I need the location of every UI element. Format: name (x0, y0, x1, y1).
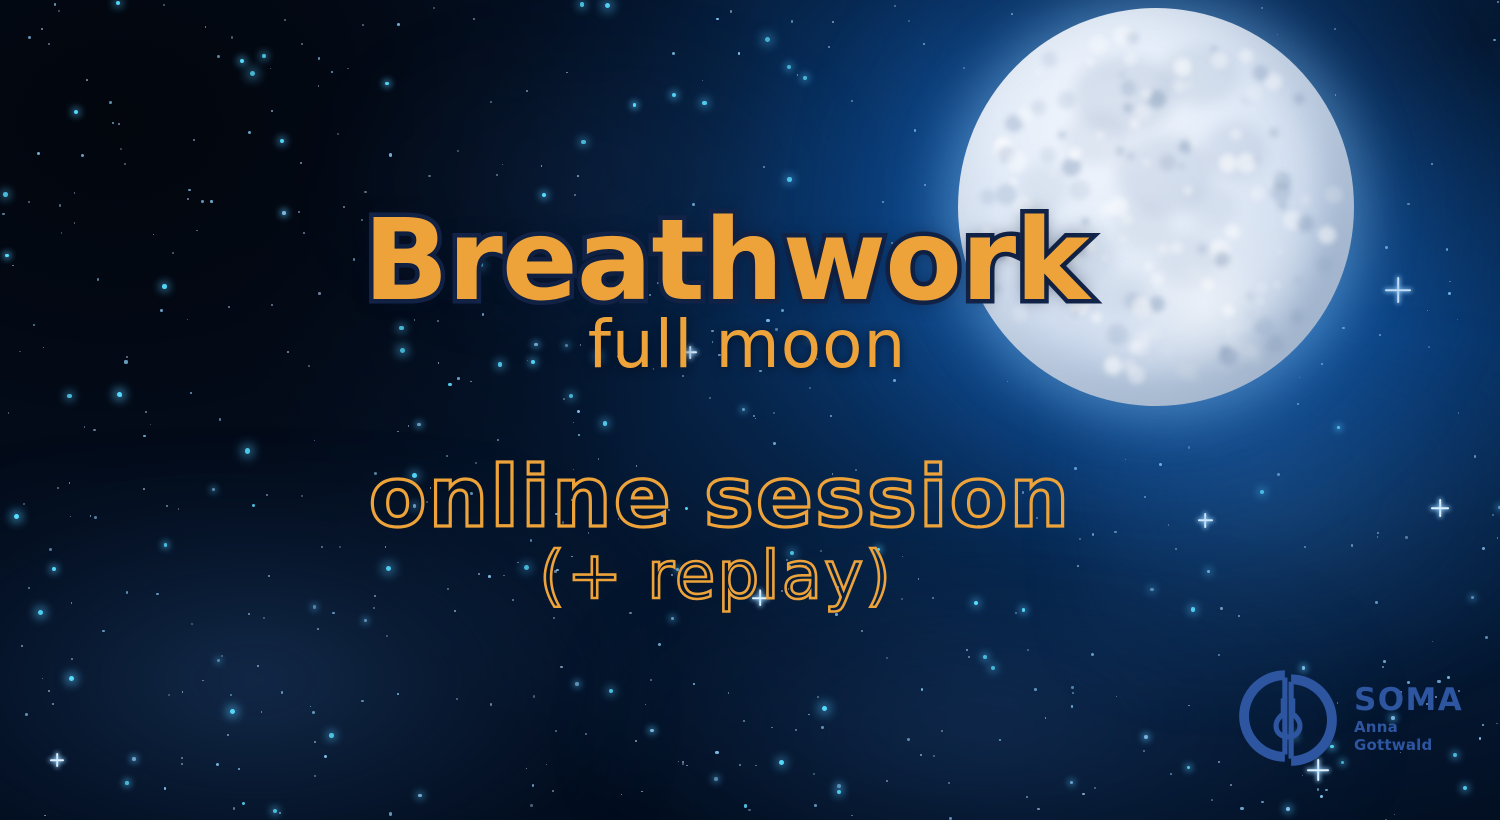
star (603, 421, 607, 425)
star (181, 757, 183, 759)
star (38, 610, 43, 615)
star (314, 440, 316, 442)
star (41, 28, 43, 30)
star (248, 613, 250, 615)
star (851, 815, 853, 817)
star (457, 150, 459, 152)
star (1230, 784, 1232, 786)
star (205, 26, 207, 28)
star (317, 628, 319, 630)
star (728, 692, 730, 694)
star (48, 43, 50, 45)
star (221, 655, 223, 657)
star (1187, 766, 1191, 770)
star (641, 791, 643, 793)
star (132, 757, 136, 761)
star (37, 152, 40, 155)
star (25, 713, 28, 716)
star (150, 424, 152, 426)
star (230, 709, 235, 714)
star (314, 775, 316, 777)
star (117, 392, 122, 397)
star (112, 122, 114, 124)
star (809, 387, 811, 389)
star (742, 408, 746, 412)
star (702, 101, 706, 105)
star (748, 809, 751, 812)
star (546, 764, 548, 766)
star (470, 381, 472, 383)
star (312, 711, 315, 714)
star (163, 4, 165, 6)
star (332, 612, 335, 615)
star (261, 711, 262, 712)
star (86, 79, 88, 81)
star (448, 383, 451, 386)
star (48, 690, 50, 692)
star (1071, 686, 1074, 689)
star (3, 192, 8, 197)
star (245, 448, 250, 453)
star (168, 694, 170, 696)
star (744, 804, 747, 807)
star (233, 807, 235, 809)
star (1482, 724, 1485, 727)
star (921, 688, 924, 691)
star (52, 703, 54, 705)
star (191, 623, 193, 625)
star (678, 761, 680, 763)
star (743, 720, 745, 722)
star (1211, 799, 1213, 801)
star (1188, 705, 1190, 707)
star (397, 693, 399, 695)
star (1027, 649, 1029, 651)
star (116, 1, 121, 6)
star (948, 782, 950, 784)
star (861, 630, 863, 632)
star (999, 739, 1002, 742)
star (968, 656, 971, 659)
format-headline: online session (0, 455, 1470, 539)
star (966, 649, 968, 651)
star (755, 765, 757, 767)
star (364, 619, 368, 623)
star (635, 740, 637, 742)
star (650, 679, 652, 681)
star (533, 695, 536, 698)
star (263, 617, 265, 619)
star (1144, 735, 1148, 739)
star (250, 71, 255, 76)
star (242, 802, 245, 805)
star (1143, 750, 1145, 752)
star (709, 397, 711, 399)
star (281, 691, 284, 694)
star (318, 85, 320, 87)
star (329, 733, 334, 738)
star (730, 10, 733, 13)
star (1261, 801, 1263, 803)
star (1432, 641, 1434, 643)
star (456, 698, 458, 700)
star (362, 24, 364, 26)
star (983, 655, 987, 659)
star (473, 18, 475, 20)
star (672, 93, 676, 97)
star (1072, 692, 1074, 694)
brand-text: SOMA Anna Gottwald (1354, 678, 1476, 755)
star (573, 422, 575, 424)
star (837, 784, 841, 788)
star (738, 52, 741, 55)
star (1070, 781, 1074, 785)
star (1497, 537, 1499, 539)
star (920, 754, 922, 756)
star (1037, 808, 1040, 811)
star (28, 36, 31, 39)
star (202, 680, 204, 682)
star (257, 665, 259, 667)
star (125, 781, 129, 785)
brand-person: Anna Gottwald (1354, 718, 1476, 754)
star (1170, 773, 1172, 775)
star (585, 733, 587, 735)
star (318, 57, 320, 59)
star (1026, 796, 1028, 798)
star (361, 700, 364, 703)
star (763, 166, 765, 168)
star (433, 7, 435, 9)
star (120, 148, 122, 150)
star (497, 439, 499, 441)
star (530, 804, 533, 807)
page-title: Breathwork (0, 205, 1476, 317)
format-note: (+ replay) (0, 543, 1466, 609)
star (1015, 612, 1017, 614)
star (787, 177, 792, 182)
star (301, 43, 303, 45)
star (569, 394, 573, 398)
star (791, 20, 793, 22)
star (279, 812, 281, 814)
star (93, 429, 95, 431)
star (1034, 688, 1037, 691)
star (671, 617, 675, 621)
star (716, 18, 718, 20)
star (164, 787, 167, 790)
star (386, 635, 388, 637)
star (240, 59, 244, 63)
star (271, 110, 273, 112)
star (532, 784, 534, 786)
star (227, 734, 229, 736)
star (71, 658, 73, 660)
star (21, 645, 23, 647)
star (124, 163, 126, 165)
star (1463, 786, 1467, 790)
star (526, 90, 528, 92)
star (385, 82, 389, 86)
star (8, 412, 10, 414)
star (1218, 654, 1221, 657)
soma-circle-flask-icon (1236, 664, 1340, 768)
star (310, 706, 312, 708)
star (1091, 653, 1094, 656)
star (817, 696, 819, 698)
star (74, 110, 78, 114)
star (779, 760, 784, 765)
star (822, 706, 827, 711)
star (397, 431, 399, 433)
brand-name: SOMA (1354, 684, 1476, 717)
star (1240, 807, 1243, 810)
star (143, 435, 146, 438)
star (1302, 775, 1303, 776)
star (581, 140, 586, 145)
star (69, 676, 74, 681)
star (1394, 814, 1396, 816)
star (1485, 636, 1488, 639)
star (418, 794, 422, 798)
star (216, 763, 219, 766)
star (645, 704, 647, 706)
star (765, 37, 770, 42)
star (1471, 596, 1475, 600)
star (397, 23, 400, 26)
star (682, 763, 684, 765)
star (58, 10, 60, 12)
star (886, 657, 888, 659)
star (672, 52, 675, 55)
star (219, 418, 222, 421)
star (417, 423, 421, 427)
star (886, 780, 888, 782)
star (1482, 547, 1485, 550)
star (771, 727, 773, 729)
star (190, 392, 193, 395)
star (1238, 615, 1240, 617)
star (830, 415, 832, 417)
star (300, 162, 302, 164)
star (1493, 39, 1496, 42)
star (284, 19, 286, 21)
star (67, 394, 72, 399)
star (1082, 793, 1084, 795)
star (577, 175, 579, 177)
star (526, 768, 528, 770)
star (42, 678, 44, 680)
star (580, 2, 585, 7)
star (364, 191, 366, 193)
star (1286, 807, 1290, 811)
star (454, 610, 456, 612)
star (803, 76, 807, 80)
star (755, 418, 757, 420)
star (44, 815, 46, 817)
page-subtitle: full moon (0, 312, 1497, 378)
star (324, 755, 327, 758)
poster-canvas: Breathwork full moon online session (+ r… (0, 0, 1500, 820)
star (496, 174, 498, 176)
star (1094, 787, 1096, 789)
star (555, 730, 557, 732)
star (991, 666, 996, 671)
star (81, 154, 84, 157)
star (262, 54, 266, 58)
star (1496, 723, 1498, 725)
star (907, 738, 910, 741)
star (795, 729, 797, 731)
star (337, 133, 339, 135)
star (1218, 761, 1220, 763)
star (408, 425, 410, 427)
star (605, 3, 610, 8)
star (837, 790, 842, 795)
star (217, 659, 220, 662)
star (541, 165, 542, 166)
star (575, 682, 579, 686)
star (182, 691, 183, 692)
star (187, 198, 189, 200)
star (74, 192, 75, 193)
star (273, 809, 277, 813)
star (428, 175, 431, 178)
star (1479, 737, 1482, 740)
star (787, 65, 791, 69)
star (1116, 696, 1118, 698)
star (773, 412, 775, 414)
star (578, 434, 580, 436)
star (248, 131, 251, 134)
star (490, 703, 492, 705)
star (502, 164, 504, 166)
brand-logo[interactable]: SOMA Anna Gottwald (1236, 662, 1476, 770)
star (609, 689, 614, 694)
star (1474, 455, 1476, 457)
star (280, 139, 284, 143)
star (714, 777, 718, 781)
star (389, 812, 392, 815)
star (808, 714, 810, 716)
star (686, 765, 688, 767)
star (832, 21, 834, 23)
star (28, 201, 30, 203)
star (389, 153, 392, 156)
star (1492, 514, 1494, 516)
star (773, 442, 776, 445)
star (1458, 412, 1460, 414)
star (231, 36, 233, 38)
star (577, 410, 580, 413)
star (797, 74, 799, 76)
star (1320, 795, 1323, 798)
star (715, 751, 718, 754)
star (813, 773, 816, 776)
star (188, 189, 190, 191)
star (566, 72, 568, 74)
star (181, 763, 183, 765)
star (560, 666, 563, 669)
star (1071, 705, 1074, 708)
star (702, 80, 704, 82)
star (1317, 788, 1319, 790)
star (230, 694, 232, 696)
star (821, 726, 824, 729)
star (314, 741, 316, 743)
sparkle-star (50, 753, 64, 767)
star (941, 730, 943, 732)
star (201, 200, 204, 203)
star (102, 630, 105, 633)
star (828, 46, 830, 48)
star (331, 71, 333, 73)
star (118, 123, 120, 125)
star (739, 764, 741, 766)
star (238, 768, 240, 770)
star (270, 68, 272, 70)
star (814, 804, 817, 807)
star (933, 755, 935, 757)
star (210, 200, 213, 203)
star (949, 817, 952, 820)
star (633, 103, 637, 107)
star (650, 729, 653, 732)
star (217, 55, 220, 58)
star (552, 790, 554, 792)
star (193, 139, 195, 141)
star (490, 101, 492, 103)
star (621, 794, 623, 796)
star (1325, 789, 1327, 791)
star (145, 411, 147, 413)
star (109, 101, 112, 104)
star (54, 3, 57, 6)
star (84, 426, 86, 428)
star (347, 68, 349, 70)
star (563, 398, 565, 400)
star (658, 643, 661, 646)
star (1497, 1, 1499, 3)
star (693, 683, 695, 685)
star (553, 617, 555, 619)
star (1045, 717, 1047, 719)
